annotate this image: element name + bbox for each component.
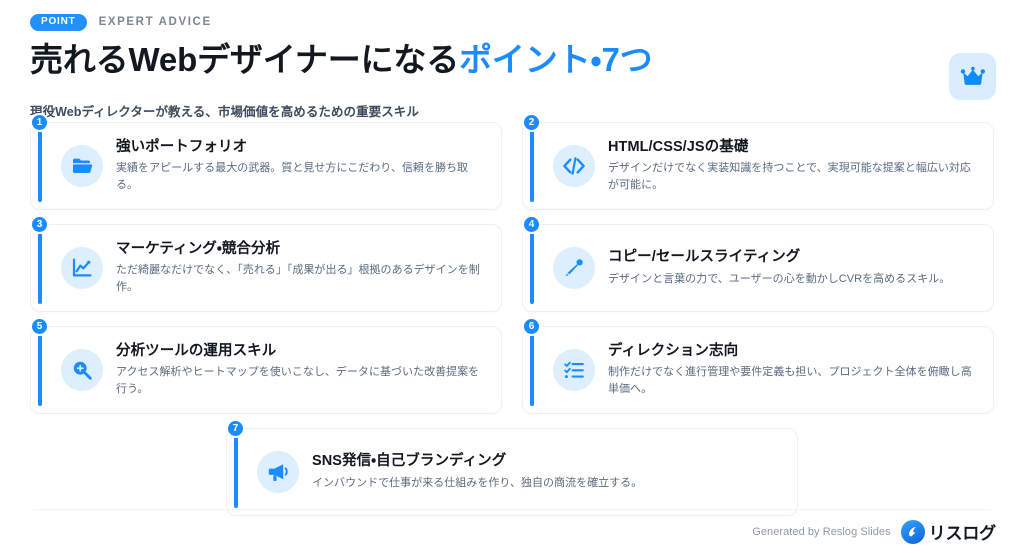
card-body: HTML/CSS/JSの基礎 デザインだけでなく実装知識を持つことで、実現可能な…: [608, 138, 977, 194]
card-title: HTML/CSS/JSの基礎: [608, 138, 977, 156]
card-accent-bar: [38, 130, 42, 202]
card-description: デザインだけでなく実装知識を持つことで、実現可能な提案と幅広い対応が可能に。: [608, 160, 977, 194]
card-description: アクセス解析やヒートマップを使いこなし、データに基づいた改善提案を行う。: [116, 364, 485, 398]
point-card-1[interactable]: 1 強いポートフォリオ 実績をアピールする最大の武器。質と見せ方にこだわり、信頼…: [30, 122, 502, 210]
generated-by-label: Generated by Reslog Slides: [752, 526, 890, 538]
card-description: 実績をアピールする最大の武器。質と見せ方にこだわり、信頼を勝ち取る。: [116, 160, 485, 194]
card-description: 制作だけでなく進行管理や要件定義も担い、プロジェクト全体を俯瞰し高単価へ。: [608, 364, 977, 398]
card-number-badge: 1: [30, 113, 49, 132]
slide-header: POINT EXPERT ADVICE 売れるWebデザイナーになるポイント・7…: [30, 12, 994, 120]
magnifier-plus-icon: [61, 349, 103, 391]
card-number-badge: 7: [226, 419, 245, 438]
point-card-7[interactable]: 7 SNS発信・自己ブランディング インバウンドで仕事が来る仕組みを作り、独自の…: [226, 428, 798, 516]
card-number-badge: 3: [30, 215, 49, 234]
eyebrow-row: POINT EXPERT ADVICE: [30, 12, 994, 32]
brand-lockup: リスログ: [901, 519, 996, 544]
card-title: 強いポートフォリオ: [116, 138, 485, 156]
crown-badge: [949, 53, 996, 100]
card-title: SNS発信・自己ブランディング: [312, 452, 781, 470]
pen-nib-icon: [553, 247, 595, 289]
point-card-6[interactable]: 6 ディレクション志向 制作だけでなく進行管理や要件定義も担い、プロジェクト全体…: [522, 326, 994, 414]
card-number-badge: 5: [30, 317, 49, 336]
brand-name-label: リスログ: [929, 519, 996, 544]
page-title: 売れるWebデザイナーになるポイント・7つ: [30, 41, 994, 79]
card-number-badge: 6: [522, 317, 541, 336]
card-number-badge: 2: [522, 113, 541, 132]
card-body: SNS発信・自己ブランディング インバウンドで仕事が来る仕組みを作り、独自の商流…: [312, 452, 781, 491]
slide-footer: Generated by Reslog Slides リスログ: [752, 519, 996, 544]
megaphone-icon: [257, 451, 299, 493]
card-accent-bar: [38, 232, 42, 304]
point-card-4[interactable]: 4 コピー/セールスライティング デザインと言葉の力で、ユーザーの心を動かしCV…: [522, 224, 994, 312]
line-chart-icon: [61, 247, 103, 289]
point-pill-badge: POINT: [30, 14, 87, 31]
card-body: 強いポートフォリオ 実績をアピールする最大の武器。質と見せ方にこだわり、信頼を勝…: [116, 138, 485, 194]
reslog-logo-icon: [901, 520, 925, 544]
crown-icon: [960, 66, 986, 88]
card-slot-3: 3 マーケティング・競合分析 ただ綺麗なだけでなく、「売れる」「成果が出る」根拠…: [30, 224, 502, 312]
card-body: コピー/セールスライティング デザインと言葉の力で、ユーザーの心を動かしCVRを…: [608, 248, 977, 287]
card-slot-2: 2 HTML/CSS/JSの基礎 デザインだけでなく実装知識を持つことで、実現可…: [522, 122, 994, 210]
card-number-badge: 4: [522, 215, 541, 234]
card-description: ただ綺麗なだけでなく、「売れる」「成果が出る」根拠のあるデザインを制作。: [116, 262, 485, 296]
card-body: ディレクション志向 制作だけでなく進行管理や要件定義も担い、プロジェクト全体を俯…: [608, 342, 977, 398]
slide-canvas: POINT EXPERT ADVICE 売れるWebデザイナーになるポイント・7…: [0, 0, 1024, 553]
card-body: マーケティング・競合分析 ただ綺麗なだけでなく、「売れる」「成果が出る」根拠のあ…: [116, 240, 485, 296]
card-slot-5: 5 分析ツールの運用スキル アクセス解析やヒートマップを使いこなし、データに基づ…: [30, 326, 502, 414]
footer-divider: [34, 509, 990, 510]
headline-highlight-text: ポイント・7つ: [459, 41, 652, 78]
card-title: マーケティング・競合分析: [116, 240, 485, 258]
card-title: コピー/セールスライティング: [608, 248, 977, 266]
card-accent-bar: [530, 334, 534, 406]
page-subtitle: 現役Webディレクターが教える、市場価値を高めるための重要スキル: [30, 101, 994, 120]
point-card-3[interactable]: 3 マーケティング・競合分析 ただ綺麗なだけでなく、「売れる」「成果が出る」根拠…: [30, 224, 502, 312]
eyebrow-label: EXPERT ADVICE: [99, 16, 212, 28]
card-slot-1: 1 強いポートフォリオ 実績をアピールする最大の武器。質と見せ方にこだわり、信頼…: [30, 122, 502, 210]
card-description: デザインと言葉の力で、ユーザーの心を動かしCVRを高めるスキル。: [608, 271, 977, 288]
code-icon: [553, 145, 595, 187]
card-description: インバウンドで仕事が来る仕組みを作り、独自の商流を確立する。: [312, 475, 781, 492]
card-accent-bar: [530, 130, 534, 202]
card-accent-bar: [38, 334, 42, 406]
point-card-5[interactable]: 5 分析ツールの運用スキル アクセス解析やヒートマップを使いこなし、データに基づ…: [30, 326, 502, 414]
card-slot-4: 4 コピー/セールスライティング デザインと言葉の力で、ユーザーの心を動かしCV…: [522, 224, 994, 312]
card-slot-6: 6 ディレクション志向 制作だけでなく進行管理や要件定義も担い、プロジェクト全体…: [522, 326, 994, 414]
checklist-icon: [553, 349, 595, 391]
card-accent-bar: [234, 436, 238, 508]
headline-main-text: 売れるWebデザイナーになる: [30, 41, 459, 78]
point-card-2[interactable]: 2 HTML/CSS/JSの基礎 デザインだけでなく実装知識を持つことで、実現可…: [522, 122, 994, 210]
card-title: ディレクション志向: [608, 342, 977, 360]
card-accent-bar: [530, 232, 534, 304]
card-slot-7: 7 SNS発信・自己ブランディング インバウンドで仕事が来る仕組みを作り、独自の…: [226, 428, 798, 516]
card-title: 分析ツールの運用スキル: [116, 342, 485, 360]
folder-icon: [61, 145, 103, 187]
points-grid: 1 強いポートフォリオ 実績をアピールする最大の武器。質と見せ方にこだわり、信頼…: [30, 122, 994, 516]
card-body: 分析ツールの運用スキル アクセス解析やヒートマップを使いこなし、データに基づいた…: [116, 342, 485, 398]
